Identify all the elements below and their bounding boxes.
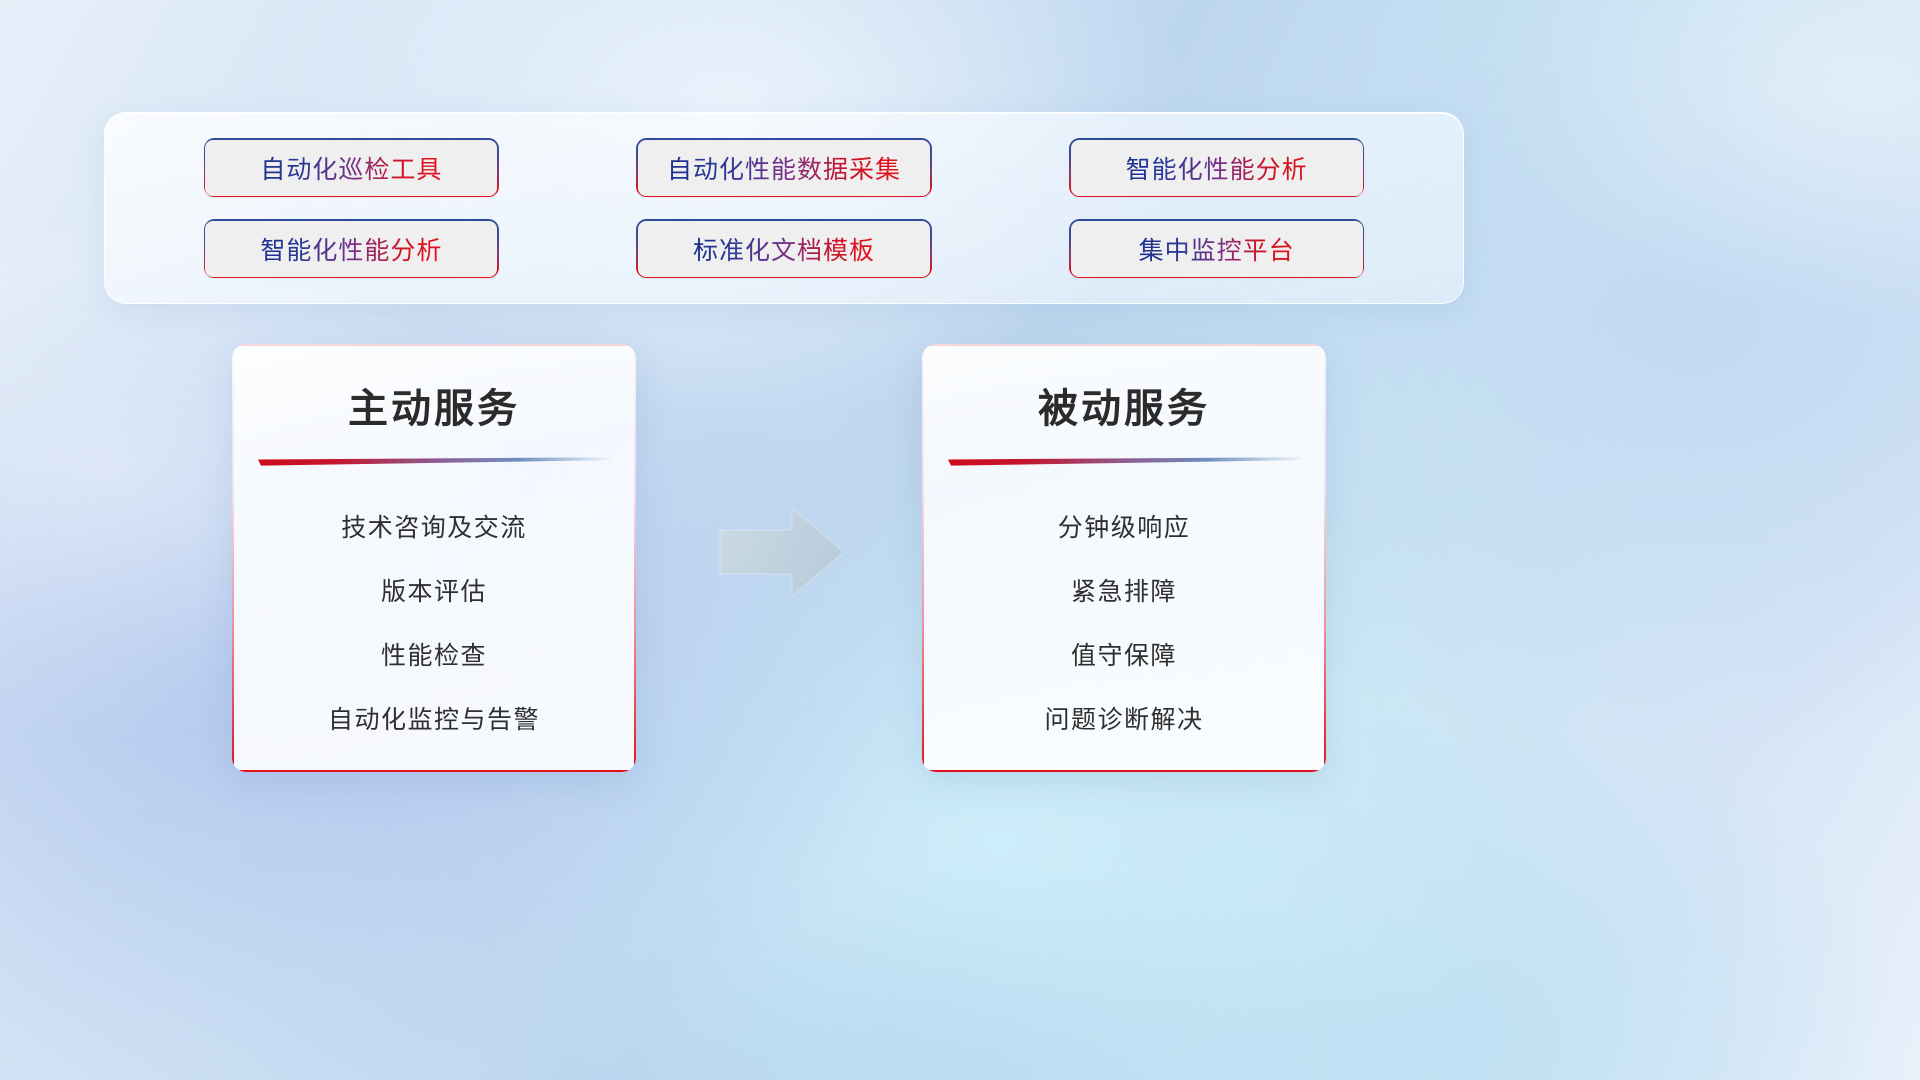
list-item: 分钟级响应 [922,494,1326,558]
list-item: 健康巡检 [232,750,636,772]
capability-pill-1-inner: 自动化巡检工具 [205,140,497,196]
capability-pill-1[interactable]: 自动化巡检工具 [205,140,497,196]
list-item: 版本评估 [232,558,636,622]
list-item: 自动化监控与告警 [232,686,636,750]
capability-pill-6[interactable]: 集中监控平台 [1071,221,1363,277]
capability-pill-2-label: 自动化性能数据采集 [667,150,901,186]
capability-pill-4-label: 智能化性能分析 [260,231,442,267]
right-arrow-icon [716,503,848,601]
capability-pill-5[interactable]: 标准化文档模板 [638,221,930,277]
list-item: 值守保障 [922,622,1326,686]
capability-pill-3-inner: 智能化性能分析 [1071,140,1363,196]
reactive-card-title: 被动服务 [922,344,1326,434]
slide-stage: 自动化巡检工具 自动化性能数据采集 智能化性能分析 智能化性能分析 标准化文档模… [0,0,1920,1080]
capability-pill-1-label: 自动化巡检工具 [260,150,442,186]
capability-pill-6-inner: 集中监控平台 [1071,221,1363,277]
proactive-service-card: 主动服务 技术咨询及交流 版本评估 性能检查 [232,344,636,772]
proactive-card-divider [258,456,610,468]
capability-pill-4[interactable]: 智能化性能分析 [205,221,497,277]
list-item: 性能检查 [232,622,636,686]
proactive-card-title: 主动服务 [232,344,636,434]
capabilities-panel: 自动化巡检工具 自动化性能数据采集 智能化性能分析 智能化性能分析 标准化文档模… [104,112,1464,304]
list-item: 问题诊断解决 [922,686,1326,750]
capability-pill-3[interactable]: 智能化性能分析 [1071,140,1363,196]
capability-pill-3-label: 智能化性能分析 [1126,150,1308,186]
list-item: 技术咨询及交流 [232,494,636,558]
capability-pill-5-inner: 标准化文档模板 [638,221,930,277]
capability-pill-5-label: 标准化文档模板 [693,231,875,267]
list-item: SLA式服务 [922,750,1326,772]
reactive-card-divider [948,456,1300,468]
reactive-service-list: 分钟级响应 紧急排障 值守保障 问题诊断解决 SLA式服务 [922,468,1326,772]
reactive-service-card: 被动服务 分钟级响应 紧急排障 值守保障 [922,344,1326,772]
capability-pill-2[interactable]: 自动化性能数据采集 [638,140,930,196]
capability-pill-2-inner: 自动化性能数据采集 [638,140,930,196]
capability-pill-6-label: 集中监控平台 [1139,231,1295,267]
proactive-service-list: 技术咨询及交流 版本评估 性能检查 自动化监控与告警 健康巡检 [232,468,636,772]
list-item: 紧急排障 [922,558,1326,622]
capability-pill-4-inner: 智能化性能分析 [205,221,497,277]
